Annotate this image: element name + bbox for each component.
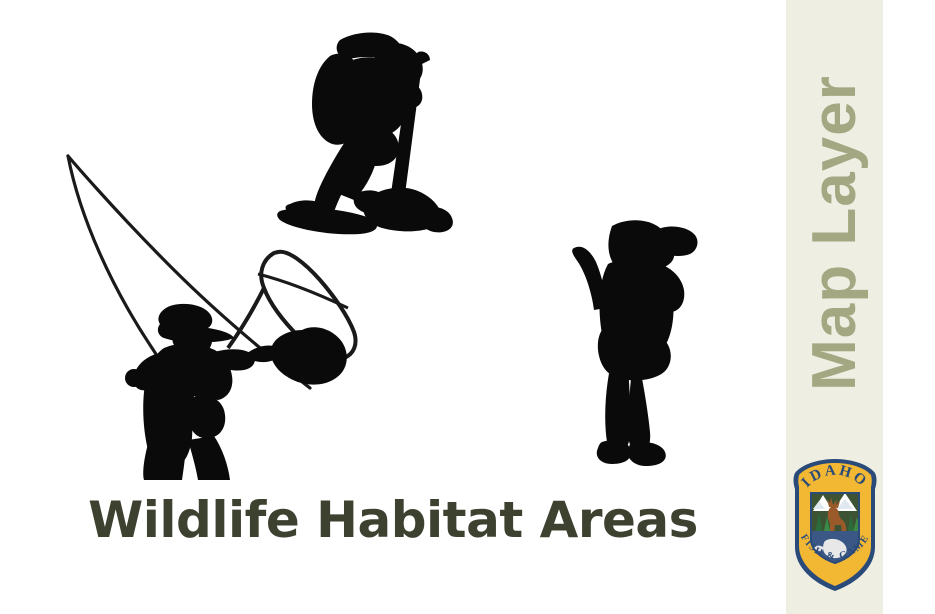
map-layer-sidebar: Map Layer <box>786 0 883 614</box>
viewer-figure-silhouette <box>568 212 713 474</box>
wildlife-habitat-areas-map-layer-card: Wildlife Habitat Areas Map Layer <box>0 0 935 614</box>
map-layer-label: Map Layer <box>804 75 866 391</box>
hiker-figure-silhouette <box>272 22 462 240</box>
page-title: Wildlife Habitat Areas <box>0 495 786 545</box>
idaho-fish-and-game-logo: IDAHO FISH & GAME <box>789 455 881 595</box>
